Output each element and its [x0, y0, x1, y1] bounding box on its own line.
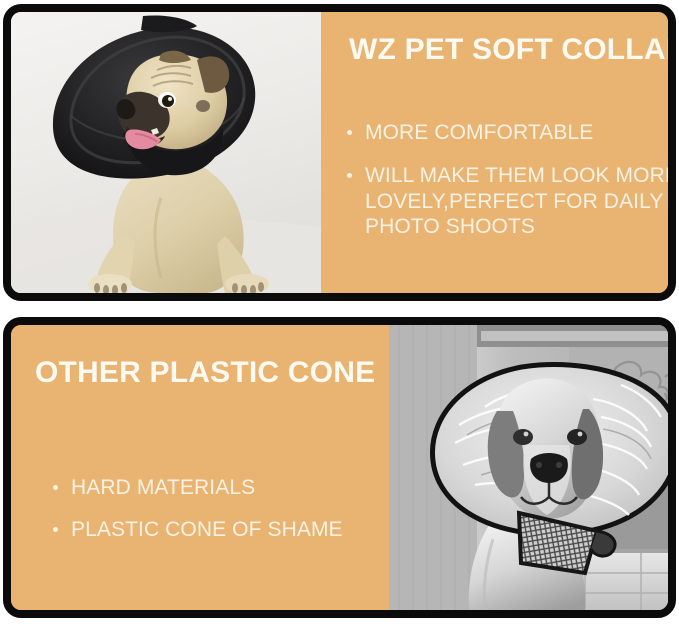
feature-text: HARD MATERIALS [71, 475, 375, 501]
panel-wz-pet-soft-collar: WZ PET SOFT COLLAR MORE COMFORTABLE WILL… [3, 4, 676, 301]
feature-text: MORE COMFORTABLE [365, 120, 676, 146]
feature-text: WILL MAKE THEM LOOK MORE LOVELY,PERFECT … [365, 163, 676, 240]
plastic-cone-text-content: OTHER PLASTIC CONE HARD MATERIALS PLASTI… [11, 325, 389, 610]
labrador-wearing-clear-plastic-cone-photo [389, 325, 676, 610]
feature-item: WILL MAKE THEM LOOK MORE LOVELY,PERFECT … [345, 163, 676, 240]
product-comparison-board: WZ PET SOFT COLLAR MORE COMFORTABLE WILL… [0, 0, 679, 627]
feature-list-other-plastic-cone: HARD MATERIALS PLASTIC CONE OF SHAME [51, 475, 375, 543]
feature-item: MORE COMFORTABLE [345, 120, 676, 146]
panel-title-other-plastic-cone: OTHER PLASTIC CONE [35, 357, 375, 389]
wz-collar-text-content: WZ PET SOFT COLLAR MORE COMFORTABLE WILL… [321, 12, 676, 293]
feature-item: PLASTIC CONE OF SHAME [51, 517, 375, 543]
feature-text: PLASTIC CONE OF SHAME [71, 517, 375, 543]
bullet-point-icon [53, 527, 58, 532]
bullet-point-icon [53, 485, 58, 490]
bullet-point-icon [347, 173, 352, 178]
bullet-point-icon [347, 130, 352, 135]
panel-other-plastic-cone: OTHER PLASTIC CONE HARD MATERIALS PLASTI… [3, 317, 676, 618]
feature-item: HARD MATERIALS [51, 475, 375, 501]
panel-title-wz-pet-soft-collar: WZ PET SOFT COLLAR [349, 34, 676, 66]
feature-list-wz-pet-soft-collar: MORE COMFORTABLE WILL MAKE THEM LOOK MOR… [345, 120, 676, 240]
pug-wearing-black-soft-collar-photo [11, 12, 321, 293]
